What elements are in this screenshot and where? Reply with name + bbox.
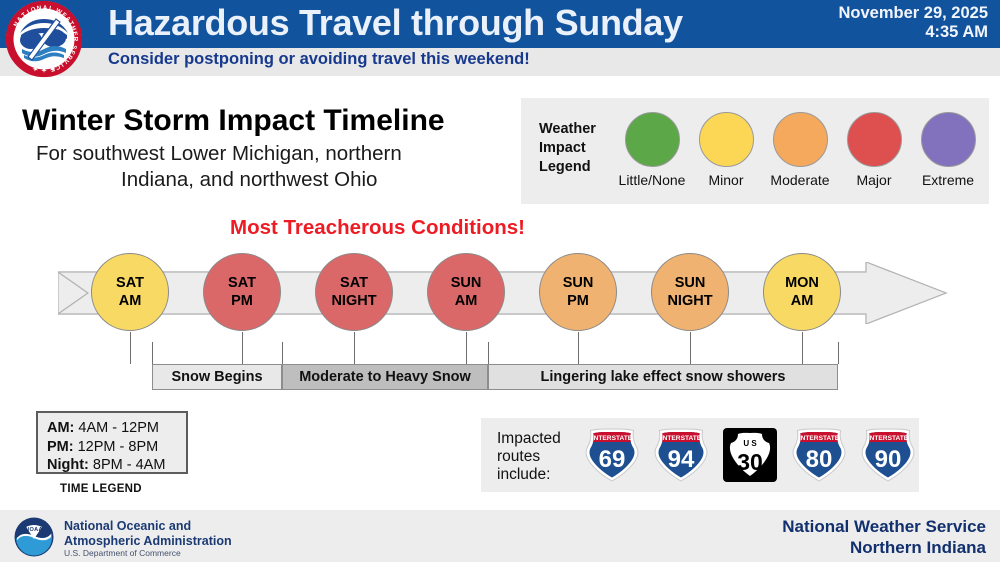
legend-color-swatch [699, 112, 754, 167]
time-legend-caption: TIME LEGEND [60, 483, 142, 495]
svg-text:U S: U S [743, 439, 757, 448]
period-connector-line [130, 332, 131, 364]
timeline-period-mon-am[interactable]: MONAM [763, 253, 841, 331]
period-day-label: MON [785, 274, 819, 292]
timeline-period-sun-am[interactable]: SUNAM [427, 253, 505, 331]
route-shield-80: INTERSTATE80 [788, 424, 850, 486]
legend-item: Minor [689, 104, 763, 188]
segment-tick [488, 342, 489, 364]
issuing-office-line-2: Northern Indiana [782, 537, 986, 558]
legend-item-label: Moderate [770, 172, 829, 188]
period-day-label: SUN [675, 274, 706, 292]
legend-color-swatch [921, 112, 976, 167]
route-shield-30: U S30 [719, 424, 781, 486]
time-legend-value: 8PM - 4AM [89, 457, 166, 473]
time-legend-key: AM: [47, 420, 74, 436]
time-legend-row: Night: 8PM - 4AM [47, 456, 186, 475]
svg-text:INTERSTATE: INTERSTATE [868, 435, 909, 442]
section-title: Winter Storm Impact Timeline [22, 104, 445, 138]
header-subtitle: Consider postponing or avoiding travel t… [108, 50, 530, 69]
issuing-office: National Weather Service Northern Indian… [782, 516, 986, 558]
timeline-period-sat-am[interactable]: SATAM [91, 253, 169, 331]
legend-item-label: Major [856, 172, 891, 188]
svg-text:A: A [43, 4, 48, 11]
noaa-agency-line-1: National Oceanic and [64, 519, 232, 534]
legend-item-label: Little/None [619, 172, 686, 188]
timeline-segments: Snow BeginsModerate to Heavy SnowLingeri… [152, 364, 838, 390]
svg-text:R: R [72, 37, 79, 42]
coverage-area-line-1: For southwest Lower Michigan, northern [36, 142, 402, 166]
issue-date: November 29, 2025 [838, 4, 988, 23]
impacted-routes-label: Impacted routes include: [497, 430, 561, 484]
legend-title-line-3: Legend [539, 158, 596, 177]
segment-tick [838, 342, 839, 364]
noaa-department: U.S. Department of Commerce [64, 548, 181, 558]
period-day-label: SUN [451, 274, 482, 292]
impacted-routes-box: Impacted routes include: INTERSTATE69INT… [481, 418, 919, 492]
time-legend-value: 12PM - 8PM [74, 439, 159, 455]
timeline-segment-label: Moderate to Heavy Snow [282, 364, 488, 390]
legend-title-line-1: Weather [539, 120, 596, 139]
treacherous-callout: Most Treacherous Conditions! [230, 216, 525, 240]
period-time-label: PM [231, 292, 253, 310]
noaa-agency-name: National Oceanic and Atmospheric Adminis… [64, 519, 232, 548]
time-legend-key: Night: [47, 457, 89, 473]
legend-title: Weather Impact Legend [539, 120, 596, 177]
period-time-label: NIGHT [331, 292, 376, 310]
time-legend-row: PM: 12PM - 8PM [47, 438, 186, 457]
legend-color-swatch [773, 112, 828, 167]
period-day-label: SAT [116, 274, 144, 292]
route-shields: INTERSTATE69INTERSTATE94U S30INTERSTATE8… [581, 422, 919, 488]
period-connector-line [242, 332, 243, 364]
time-legend-row: AM: 4AM - 12PM [47, 419, 186, 438]
period-day-label: SUN [563, 274, 594, 292]
legend-item: Major [837, 104, 911, 188]
period-connector-line [466, 332, 467, 364]
legend-item: Little/None [615, 104, 689, 188]
weather-graphic: N A T I O N A L W E A T H E R S E R V I [0, 0, 1000, 562]
legend-item-label: Minor [708, 172, 743, 188]
legend-title-line-2: Impact [539, 139, 596, 158]
svg-text:94: 94 [668, 446, 695, 473]
impacted-routes-label-line-3: include: [497, 466, 561, 484]
timeline-segment-label: Snow Begins [152, 364, 282, 390]
legend-item-label: Extreme [922, 172, 974, 188]
time-legend-key: PM: [47, 439, 74, 455]
timeline-period-sun-night[interactable]: SUNNIGHT [651, 253, 729, 331]
period-time-label: AM [455, 292, 478, 310]
segment-tick [282, 342, 283, 364]
svg-text:NOAA: NOAA [25, 527, 43, 533]
svg-text:INTERSTATE: INTERSTATE [661, 435, 702, 442]
period-day-label: SAT [340, 274, 368, 292]
svg-text:80: 80 [806, 446, 833, 473]
period-connector-line [690, 332, 691, 364]
svg-text:★: ★ [41, 66, 48, 73]
time-legend-box: AM: 4AM - 12PM PM: 12PM - 8PM Night: 8PM… [36, 411, 188, 474]
noaa-logo-icon: NOAA [14, 517, 54, 557]
legend-item: Moderate [763, 104, 837, 188]
timeline-period-sun-pm[interactable]: SUNPM [539, 253, 617, 331]
legend-color-swatch [625, 112, 680, 167]
impacted-routes-label-line-2: routes [497, 448, 561, 466]
segment-tick [152, 342, 153, 364]
svg-text:30: 30 [737, 449, 763, 475]
period-connector-line [802, 332, 803, 364]
coverage-area-line-2: Indiana, and northwest Ohio [121, 168, 377, 192]
timeline-segment-label: Lingering lake effect snow showers [488, 364, 838, 390]
period-time-label: PM [567, 292, 589, 310]
timeline-period-sat-pm[interactable]: SATPM [203, 253, 281, 331]
svg-text:90: 90 [875, 446, 902, 473]
issue-time: 4:35 AM [838, 23, 988, 42]
svg-text:69: 69 [599, 446, 626, 473]
period-time-label: AM [119, 292, 142, 310]
legend-items: Little/NoneMinorModerateMajorExtreme [615, 104, 985, 202]
issue-datetime: November 29, 2025 4:35 AM [838, 4, 988, 42]
route-shield-94: INTERSTATE94 [650, 424, 712, 486]
impacted-routes-label-line-1: Impacted [497, 430, 561, 448]
page-title: Hazardous Travel through Sunday [108, 2, 683, 44]
legend-item: Extreme [911, 104, 985, 188]
route-shield-69: INTERSTATE69 [581, 424, 643, 486]
period-day-label: SAT [228, 274, 256, 292]
issuing-office-line-1: National Weather Service [782, 516, 986, 537]
timeline-period-sat-night[interactable]: SATNIGHT [315, 253, 393, 331]
nws-logo-icon: N A T I O N A L W E A T H E R S E R V I [4, 0, 84, 79]
route-shield-90: INTERSTATE90 [857, 424, 919, 486]
period-connector-line [578, 332, 579, 364]
weather-impact-legend: Weather Impact Legend Little/NoneMinorMo… [521, 98, 989, 204]
svg-text:INTERSTATE: INTERSTATE [799, 435, 840, 442]
noaa-agency-line-2: Atmospheric Administration [64, 534, 232, 549]
time-legend-value: 4AM - 12PM [74, 420, 159, 436]
period-time-label: NIGHT [667, 292, 712, 310]
period-time-label: AM [791, 292, 814, 310]
period-connector-line [354, 332, 355, 364]
legend-color-swatch [847, 112, 902, 167]
svg-text:INTERSTATE: INTERSTATE [592, 435, 633, 442]
